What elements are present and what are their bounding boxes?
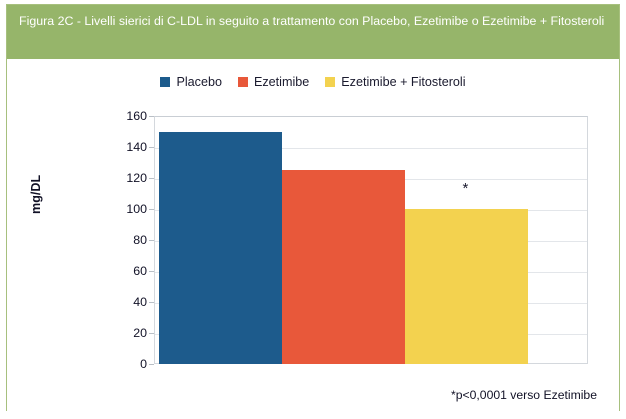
plot-wrapper: mg/DL 160140120100806040200 *: [7, 59, 619, 412]
bar-placebo[interactable]: [159, 132, 282, 365]
bar-ezetimibe-fitosteroli[interactable]: [405, 209, 528, 364]
y-tick-label: 140: [126, 140, 147, 154]
figure-header: Figura 2C - Livelli sierici di C-LDL in …: [7, 5, 619, 59]
y-axis-tick-labels: 160140120100806040200: [103, 116, 147, 364]
footnote-significance: *p<0,0001 verso Ezetimibe: [451, 388, 597, 402]
significance-asterisk: *: [463, 181, 469, 196]
y-tick-label: 120: [126, 171, 147, 185]
y-axis-title: mg/DL: [29, 175, 43, 214]
figure-body: Placebo Ezetimibe Ezetimibe + Fitosterol…: [7, 59, 619, 412]
y-tick-label: 20: [133, 326, 147, 340]
y-tick-label: 40: [133, 295, 147, 309]
y-tick-label: 60: [133, 264, 147, 278]
screenshot-root: Figura 2C - Livelli sierici di C-LDL in …: [0, 0, 626, 419]
y-tick-label: 0: [140, 357, 147, 371]
y-tick-label: 80: [133, 233, 147, 247]
figure-title: Figura 2C - Livelli sierici di C-LDL in …: [19, 12, 607, 30]
y-tick-label: 100: [126, 202, 147, 216]
bars-layer: *: [154, 116, 588, 364]
y-tick-mark: [149, 364, 154, 365]
y-tick-label: 160: [126, 109, 147, 123]
bar-ezetimibe[interactable]: [282, 170, 405, 364]
figure-card: Figura 2C - Livelli sierici di C-LDL in …: [6, 4, 620, 411]
